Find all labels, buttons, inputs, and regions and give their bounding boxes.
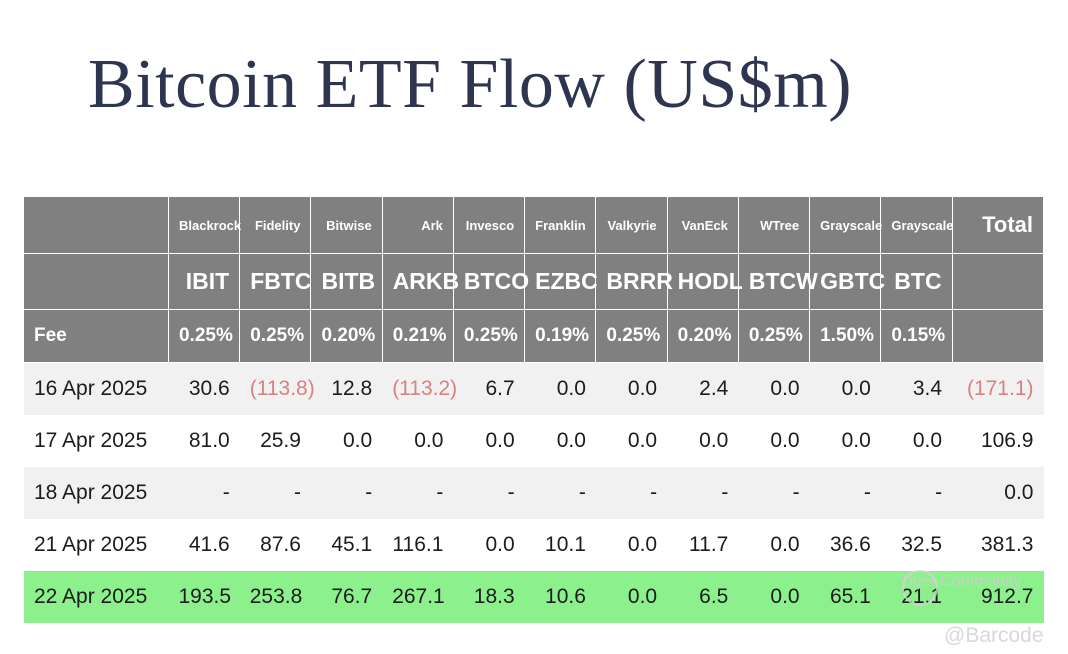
fee-value-5: 0.25%: [453, 310, 524, 363]
flow-value-1: 41.6: [168, 519, 239, 571]
flow-value-5: 0.0: [453, 415, 524, 467]
flow-value-5: 0.0: [453, 519, 524, 571]
flow-value-9: 0.0: [738, 571, 809, 623]
flow-value-3: 76.7: [311, 571, 382, 623]
ticker-header-blank: [24, 254, 168, 310]
ticker-total-blank: [952, 254, 1043, 310]
flow-value-1: 30.6: [168, 363, 239, 416]
flow-value-11: -: [881, 467, 952, 519]
flow-value-4: -: [382, 467, 453, 519]
flow-value-9: -: [738, 467, 809, 519]
issuer-header-blank: [24, 197, 168, 254]
fee-value-9: 0.25%: [738, 310, 809, 363]
flow-value-2: (113.8): [240, 363, 311, 416]
flow-value-7: -: [596, 467, 667, 519]
flow-value-3: 12.8: [311, 363, 382, 416]
ticker-symbol-5: BTCO: [453, 254, 524, 310]
row-total: 912.7: [952, 571, 1043, 623]
flow-value-6: 10.1: [525, 519, 596, 571]
header-row-issuer: BlackrockFidelityBitwiseArkInvescoFrankl…: [24, 197, 1044, 254]
ticker-symbol-2: FBTC: [240, 254, 311, 310]
ticker-symbol-4: ARKB: [382, 254, 453, 310]
issuer-name-10: Grayscale: [810, 197, 881, 254]
fee-value-4: 0.21%: [382, 310, 453, 363]
flow-value-4: 267.1: [382, 571, 453, 623]
row-total: 106.9: [952, 415, 1043, 467]
flow-value-11: 3.4: [881, 363, 952, 416]
flow-value-4: 0.0: [382, 415, 453, 467]
flow-value-8: 6.5: [667, 571, 738, 623]
flow-value-8: 11.7: [667, 519, 738, 571]
fee-value-3: 0.20%: [311, 310, 382, 363]
fee-value-8: 0.20%: [667, 310, 738, 363]
issuer-name-4: Ark: [382, 197, 453, 254]
flow-value-9: 0.0: [738, 415, 809, 467]
flow-value-5: 6.7: [453, 363, 524, 416]
ticker-symbol-6: EZBC: [525, 254, 596, 310]
table-row: 21 Apr 202541.687.645.1116.10.010.10.011…: [24, 519, 1044, 571]
flow-value-7: 0.0: [596, 415, 667, 467]
barcode-watermark: @Barcode: [944, 624, 1044, 648]
fee-value-10: 1.50%: [810, 310, 881, 363]
flow-value-1: 81.0: [168, 415, 239, 467]
flow-value-3: 45.1: [311, 519, 382, 571]
flow-value-7: 0.0: [596, 571, 667, 623]
fee-value-1: 0.25%: [168, 310, 239, 363]
row-date: 16 Apr 2025: [24, 363, 168, 416]
etf-flow-table-container: BlackrockFidelityBitwiseArkInvescoFrankl…: [24, 196, 1044, 623]
row-date: 17 Apr 2025: [24, 415, 168, 467]
flow-value-3: -: [311, 467, 382, 519]
table-body: 16 Apr 202530.6(113.8)12.8(113.2)6.70.00…: [24, 363, 1044, 624]
row-total: 0.0: [952, 467, 1043, 519]
header-row-fee: Fee0.25%0.25%0.20%0.21%0.25%0.19%0.25%0.…: [24, 310, 1044, 363]
table-header: BlackrockFidelityBitwiseArkInvescoFrankl…: [24, 197, 1044, 363]
flow-value-10: -: [810, 467, 881, 519]
row-date: 21 Apr 2025: [24, 519, 168, 571]
fee-value-2: 0.25%: [240, 310, 311, 363]
flow-value-10: 0.0: [810, 415, 881, 467]
flow-value-6: -: [525, 467, 596, 519]
issuer-name-1: Blackrock: [168, 197, 239, 254]
table-row: 18 Apr 2025-----------0.0: [24, 467, 1044, 519]
flow-value-9: 0.0: [738, 363, 809, 416]
flow-value-10: 0.0: [810, 363, 881, 416]
issuer-name-2: Fidelity: [240, 197, 311, 254]
total-column-header: Total: [952, 197, 1043, 254]
issuer-name-6: Franklin: [525, 197, 596, 254]
fee-total-blank: [952, 310, 1043, 363]
flow-value-1: -: [168, 467, 239, 519]
flow-value-4: (113.2): [382, 363, 453, 416]
flow-value-6: 0.0: [525, 415, 596, 467]
flow-value-11: 21.1: [881, 571, 952, 623]
flow-value-8: 2.4: [667, 363, 738, 416]
flow-value-2: 87.6: [240, 519, 311, 571]
ticker-symbol-9: BTCW: [738, 254, 809, 310]
header-row-ticker: IBITFBTCBITBARKBBTCOEZBCBRRRHODLBTCWGBTC…: [24, 254, 1044, 310]
flow-value-2: 253.8: [240, 571, 311, 623]
issuer-name-11: Grayscale: [881, 197, 952, 254]
flow-value-9: 0.0: [738, 519, 809, 571]
flow-value-7: 0.0: [596, 363, 667, 416]
ticker-symbol-7: BRRR: [596, 254, 667, 310]
flow-value-4: 116.1: [382, 519, 453, 571]
issuer-name-8: VanEck: [667, 197, 738, 254]
flow-value-6: 10.6: [525, 571, 596, 623]
issuer-name-3: Bitwise: [311, 197, 382, 254]
fee-value-6: 0.19%: [525, 310, 596, 363]
table-row: 16 Apr 202530.6(113.8)12.8(113.2)6.70.00…: [24, 363, 1044, 416]
issuer-name-7: Valkyrie: [596, 197, 667, 254]
ticker-symbol-10: GBTC: [810, 254, 881, 310]
flow-value-3: 0.0: [311, 415, 382, 467]
fee-value-7: 0.25%: [596, 310, 667, 363]
issuer-name-9: WTree: [738, 197, 809, 254]
title-bar: Bitcoin ETF Flow (US$m): [0, 0, 1068, 170]
flow-value-5: -: [453, 467, 524, 519]
ticker-symbol-1: IBIT: [168, 254, 239, 310]
fee-row-label: Fee: [24, 310, 168, 363]
issuer-name-5: Invesco: [453, 197, 524, 254]
row-total: 381.3: [952, 519, 1043, 571]
table-row: 17 Apr 202581.025.90.00.00.00.00.00.00.0…: [24, 415, 1044, 467]
ticker-symbol-8: HODL: [667, 254, 738, 310]
flow-value-11: 32.5: [881, 519, 952, 571]
ticker-symbol-11: BTC: [881, 254, 952, 310]
flow-value-6: 0.0: [525, 363, 596, 416]
row-date: 22 Apr 2025: [24, 571, 168, 623]
flow-value-10: 65.1: [810, 571, 881, 623]
flow-value-8: -: [667, 467, 738, 519]
flow-value-11: 0.0: [881, 415, 952, 467]
flow-value-10: 36.6: [810, 519, 881, 571]
flow-value-1: 193.5: [168, 571, 239, 623]
table-row: 22 Apr 2025193.5253.876.7267.118.310.60.…: [24, 571, 1044, 623]
fee-value-11: 0.15%: [881, 310, 952, 363]
flow-value-8: 0.0: [667, 415, 738, 467]
flow-value-7: 0.0: [596, 519, 667, 571]
flow-value-2: -: [240, 467, 311, 519]
flow-value-2: 25.9: [240, 415, 311, 467]
row-date: 18 Apr 2025: [24, 467, 168, 519]
page-title: Bitcoin ETF Flow (US$m): [88, 50, 852, 120]
etf-flow-table: BlackrockFidelityBitwiseArkInvescoFrankl…: [24, 196, 1044, 623]
row-total: (171.1): [952, 363, 1043, 416]
ticker-symbol-3: BITB: [311, 254, 382, 310]
flow-value-5: 18.3: [453, 571, 524, 623]
